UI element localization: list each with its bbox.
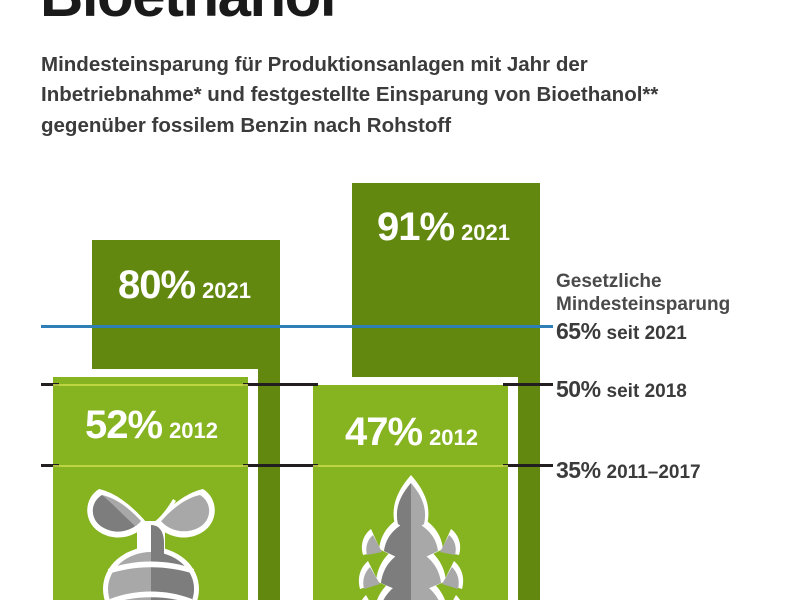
bar-year-getreide-91: 2021 <box>461 220 510 245</box>
reference-line-35-overlay-right <box>313 465 508 467</box>
legend-title-line1: Gesetzliche <box>556 270 800 293</box>
bar-label-zuckerruebe-52: 52%2012 <box>85 405 218 445</box>
wheat-ear-icon <box>351 473 471 600</box>
bar-gutter-top-left <box>53 369 258 377</box>
bar-gutter-right <box>508 383 518 600</box>
bar-value-zuckerruebe-52: 52% <box>85 403 162 447</box>
reference-line-35-overlay-left <box>53 465 248 467</box>
legend-entry-50: 50%seit 2018 <box>556 376 687 403</box>
reference-line-50-segment-right <box>503 383 553 386</box>
legend-title-line2: Mindesteinsparung <box>556 293 730 316</box>
legend-value-35: 35% <box>556 457 601 483</box>
bar-year-zuckerruebe-80: 2021 <box>202 278 251 303</box>
bar-label-getreide-47: 47%2012 <box>345 412 478 452</box>
bar-year-zuckerruebe-52: 2012 <box>169 418 218 443</box>
reference-line-50-overlay-left <box>53 384 248 386</box>
infographic-root: Bioethanol Mindesteinsparung für Produkt… <box>0 0 800 600</box>
reference-line-35-segment-mid <box>243 464 318 467</box>
legend-period-35: 2011–2017 <box>607 462 701 483</box>
legend-entry-65: 65%seit 2021 <box>556 318 687 345</box>
sugar-beet-icon <box>77 477 225 600</box>
reference-line-50-segment-mid <box>243 383 318 386</box>
bar-label-getreide-91: 91%2021 <box>377 207 510 247</box>
bar-year-getreide-47: 2012 <box>429 425 478 450</box>
legend-value-50: 50% <box>556 376 601 402</box>
legend-value-65: 65% <box>556 318 601 344</box>
legend: Gesetzliche Mindesteinsparung 65%seit 20… <box>556 270 800 295</box>
reference-line-65 <box>41 325 553 328</box>
legend-period-65: seit 2021 <box>607 323 687 344</box>
bar-label-zuckerruebe-80: 80%2021 <box>118 265 251 305</box>
bar-gutter-top-right <box>313 377 518 385</box>
bar-value-getreide-47: 47% <box>345 410 422 454</box>
legend-period-50: seit 2018 <box>607 381 687 402</box>
bar-gutter-left <box>248 375 258 600</box>
reference-line-35-segment-right <box>503 464 553 467</box>
bar-value-getreide-91: 91% <box>377 205 454 249</box>
bar-value-zuckerruebe-80: 80% <box>118 263 195 307</box>
legend-entry-35: 35%2011–2017 <box>556 457 701 484</box>
